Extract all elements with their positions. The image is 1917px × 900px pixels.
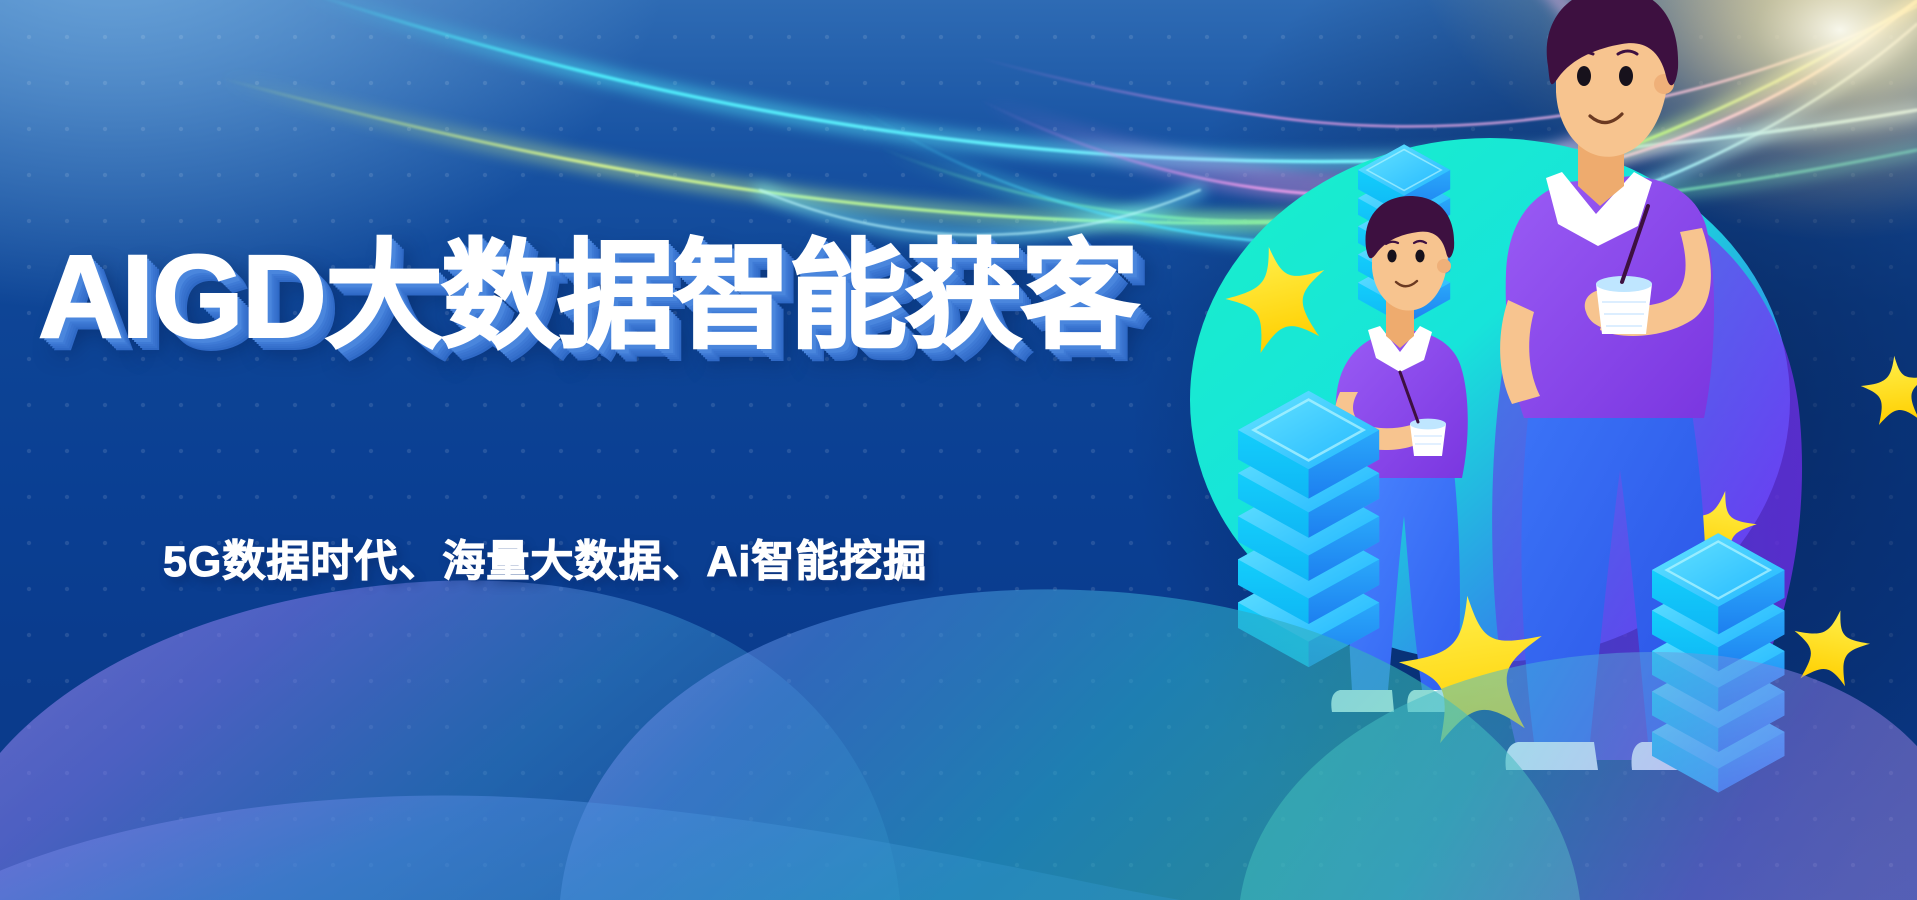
server-stack-right — [1652, 533, 1784, 792]
tall-man-brow-left — [1574, 52, 1593, 56]
corner-light-flare — [1540, 0, 1917, 240]
short-man-shoe-right — [1407, 690, 1466, 712]
star-mid-right — [1671, 484, 1762, 573]
short-man-head — [1372, 208, 1448, 311]
character-tall-man — [1500, 0, 1714, 770]
page-title: AIGD大数据智能获客 — [38, 238, 1137, 356]
text-block: AIGD大数据智能获客 5G数据时代、海量大数据、Ai智能挖掘 — [0, 0, 1100, 900]
character-short-man — [1331, 196, 1467, 712]
star-right-bottom — [1785, 602, 1875, 691]
tall-man-shoe-right — [1631, 742, 1712, 770]
tall-man-eye-left — [1577, 66, 1591, 86]
short-man-straw — [1400, 372, 1418, 422]
short-man-brow-left — [1386, 242, 1398, 244]
promo-banner: AIGD大数据智能获客 5G数据时代、海量大数据、Ai智能挖掘 — [0, 0, 1917, 900]
tall-man-shirt — [1506, 176, 1714, 418]
tall-man-brow-right — [1618, 51, 1637, 54]
wave-right-green — [1240, 652, 1917, 900]
teal-gradient-circle — [1190, 138, 1790, 662]
tall-man-arm-tucked — [1500, 300, 1540, 404]
short-man-ear — [1437, 259, 1451, 273]
short-man-hair — [1365, 196, 1454, 258]
tall-man-backdrop-shadow — [1492, 180, 1802, 760]
server-stack-top — [1358, 144, 1450, 324]
tall-man-ear — [1654, 74, 1674, 94]
tall-man-head — [1556, 6, 1668, 157]
pink-streak — [980, 0, 1917, 196]
short-man-smile — [1396, 281, 1417, 286]
tall-man-collar — [1546, 172, 1652, 246]
tall-man-hand — [1585, 290, 1626, 330]
short-man-collar — [1368, 326, 1432, 372]
short-man-arm — [1335, 392, 1418, 450]
short-man-neck — [1386, 300, 1414, 348]
star-center-bottom — [1391, 586, 1554, 747]
star-far-right-edge — [1858, 352, 1917, 426]
short-man-eye-right — [1415, 250, 1424, 263]
tall-man-arm — [1600, 228, 1711, 336]
tall-man-eye-right — [1619, 66, 1633, 86]
short-man-eye-left — [1387, 250, 1396, 263]
short-man-cup — [1410, 419, 1446, 456]
short-man-brow-right — [1414, 241, 1426, 243]
tall-man-cup — [1596, 276, 1652, 334]
tall-man-smile — [1590, 114, 1622, 123]
tall-man-neck — [1578, 126, 1624, 206]
tall-man-pants — [1521, 400, 1706, 742]
short-man-shoe-left — [1331, 690, 1394, 712]
server-stack-left — [1238, 391, 1379, 667]
star-upper-left — [1216, 235, 1340, 358]
short-man-shirt — [1336, 330, 1468, 478]
tall-man-shoe-left — [1506, 742, 1599, 770]
page-subtitle: 5G数据时代、海量大数据、Ai智能挖掘 — [163, 541, 927, 584]
tall-man-hair — [1547, 0, 1678, 85]
short-man-pants — [1348, 452, 1460, 690]
tall-man-straw — [1622, 206, 1648, 282]
